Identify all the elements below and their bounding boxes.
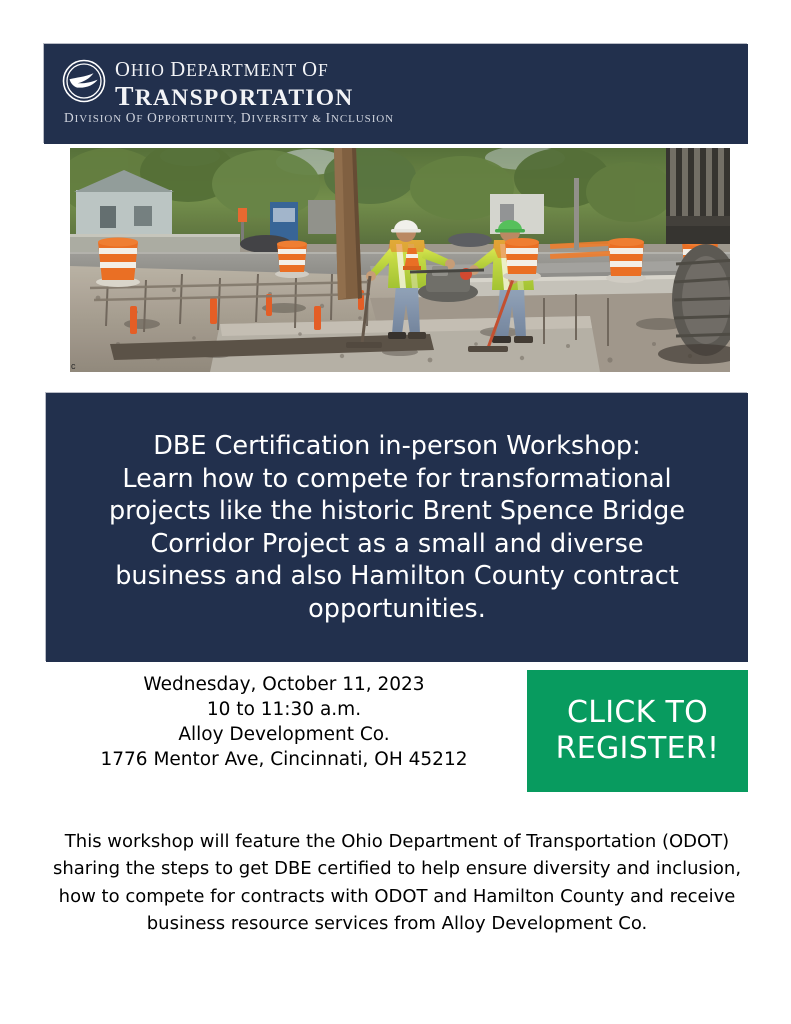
title-line: projects like the historic Brent Spence …: [67, 495, 727, 528]
flyer-page: Ohio Department of Transportation Divisi…: [0, 0, 791, 1024]
workshop-title: DBE Certification in-person Workshop: Le…: [67, 430, 727, 625]
register-label-line-2: REGISTER!: [556, 731, 720, 767]
construction-photo: c: [70, 148, 730, 372]
org-line-2: Transportation: [115, 82, 354, 111]
workshop-title-panel: DBE Certification in-person Workshop: Le…: [46, 393, 748, 662]
title-line: business and also Hamilton County contra…: [67, 560, 727, 593]
title-line: DBE Certification in-person Workshop:: [67, 430, 727, 463]
event-details: Wednesday, October 11, 2023 10 to 11:30 …: [58, 672, 510, 772]
title-line: Corridor Project as a small and diverse: [67, 528, 727, 561]
photo-credit: c: [71, 362, 76, 371]
odot-circle-bird-logo: [62, 59, 106, 103]
event-address: 1776 Mentor Ave, Cincinnati, OH 45212: [58, 747, 510, 772]
workshop-description: This workshop will feature the Ohio Depa…: [48, 828, 746, 937]
click-to-register-button[interactable]: CLICK TO REGISTER!: [527, 670, 748, 792]
title-line: Learn how to compete for transformationa…: [67, 463, 727, 496]
odot-wordmark: Ohio Department of Transportation: [115, 58, 354, 110]
odot-logo: Ohio Department of Transportation: [62, 58, 354, 110]
title-line: opportunities.: [67, 593, 727, 626]
event-venue: Alloy Development Co.: [58, 722, 510, 747]
header-banner: Ohio Department of Transportation Divisi…: [44, 44, 748, 144]
event-date: Wednesday, October 11, 2023: [58, 672, 510, 697]
register-label-line-1: CLICK TO: [556, 695, 720, 731]
division-tagline: Division of Opportunity, Diversity & Inc…: [64, 110, 394, 126]
event-time: 10 to 11:30 a.m.: [58, 697, 510, 722]
org-line-1: Ohio Department of: [115, 60, 354, 81]
register-button-label: CLICK TO REGISTER!: [556, 695, 720, 767]
